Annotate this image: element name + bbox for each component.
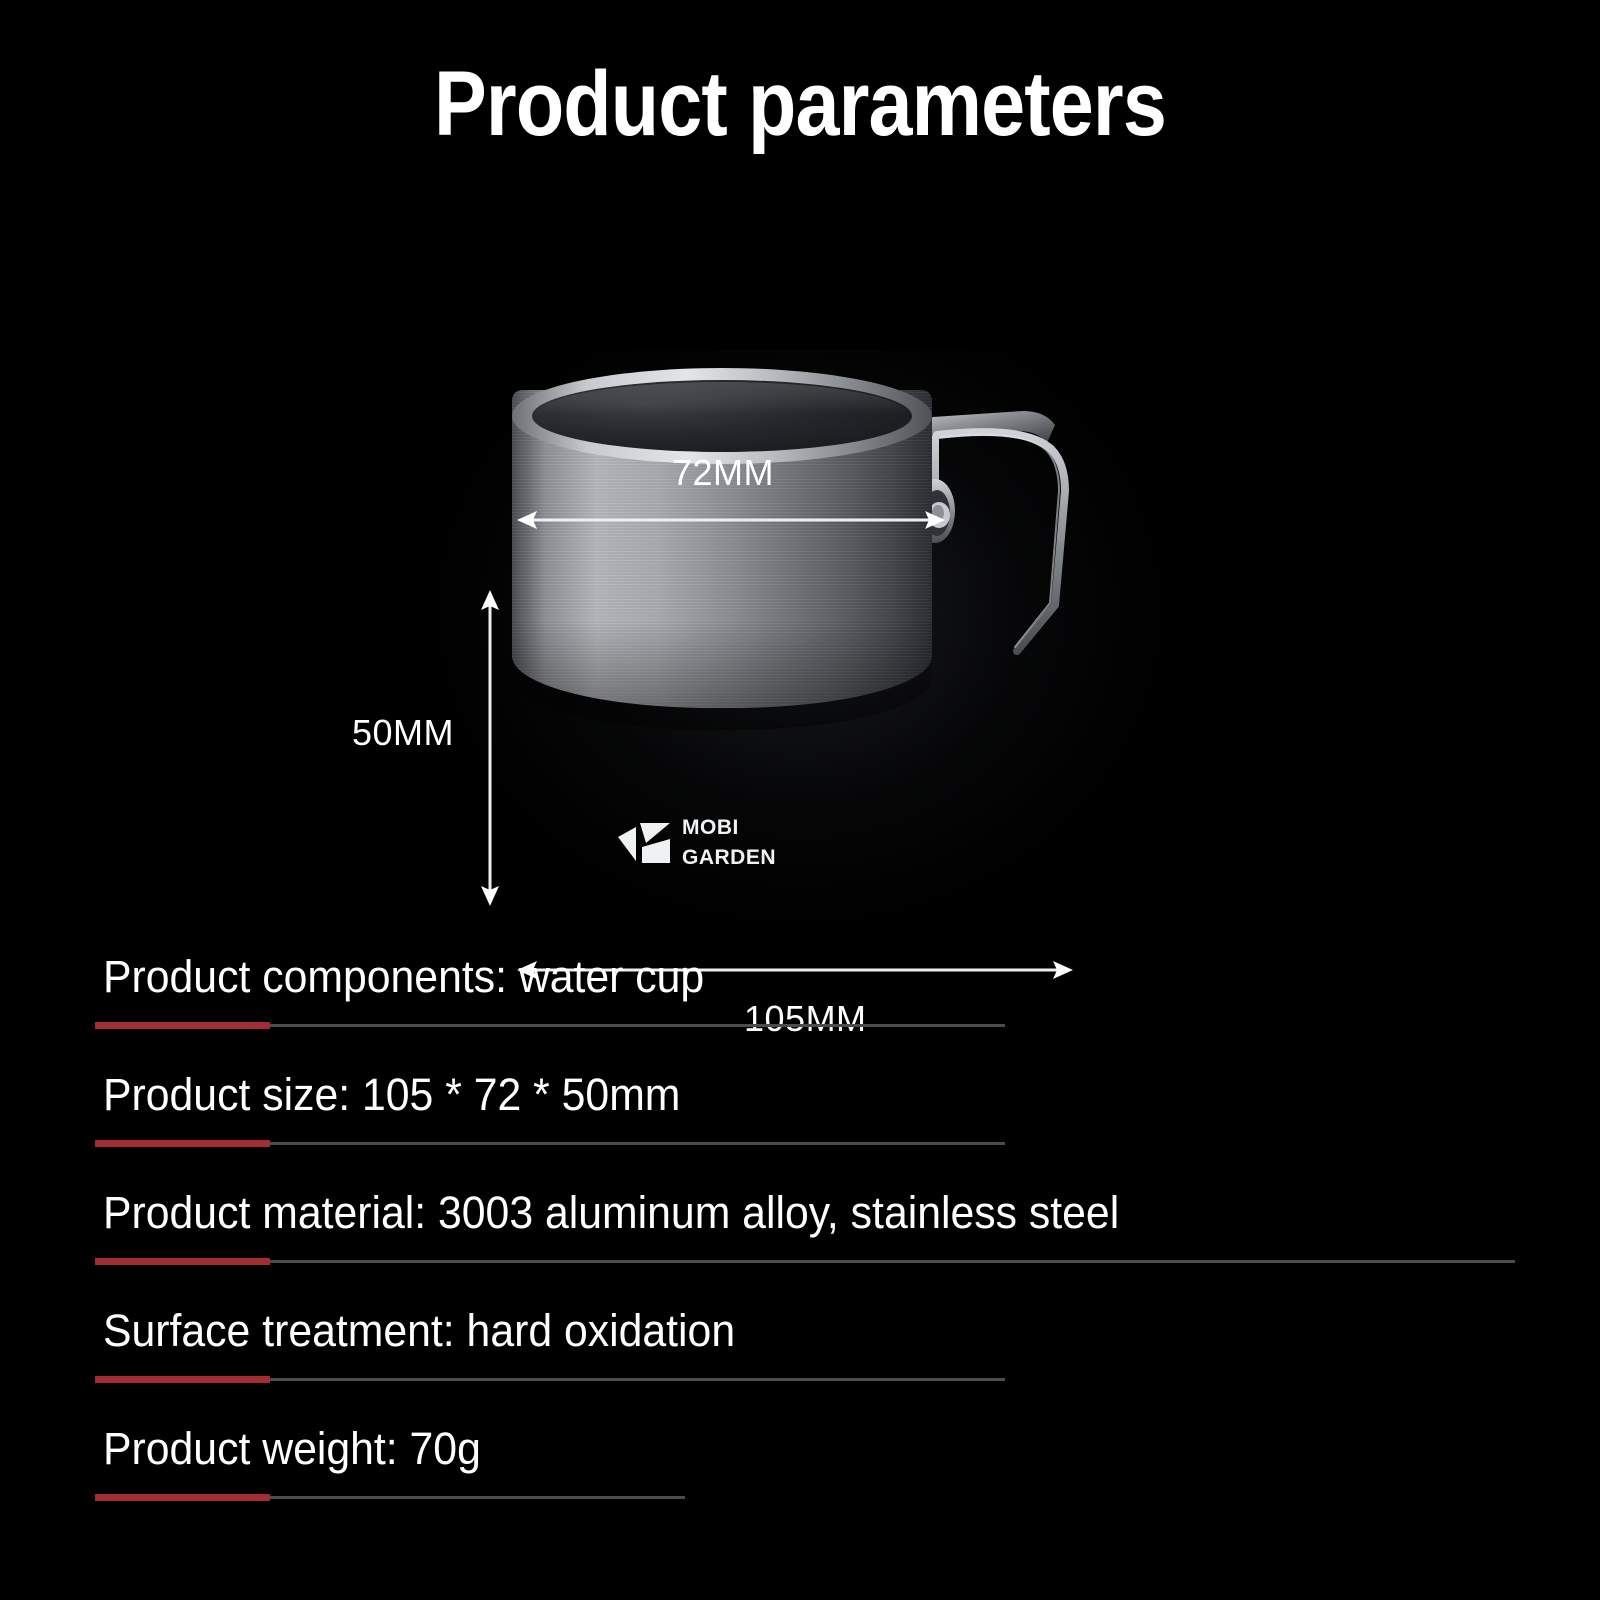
spec-divider-line xyxy=(270,1142,1005,1145)
spec-divider-line xyxy=(270,1024,1005,1027)
spec-divider xyxy=(95,1494,685,1501)
brand-logo: MOBI GARDEN xyxy=(616,813,816,875)
spec-label-components: Product components: water cup xyxy=(103,946,704,1008)
spec-divider-line xyxy=(270,1260,1515,1263)
dimension-arrow-height xyxy=(478,588,502,908)
product-photo: MOBI GARDEN 72MM 50MM xyxy=(0,200,1600,900)
spec-row: Product material: 3003 aluminum alloy, s… xyxy=(0,1174,1600,1292)
spec-row: Surface treatment: hard oxidation xyxy=(0,1292,1600,1410)
brand-logo-line1: MOBI xyxy=(682,813,776,843)
cup-bottom-shading xyxy=(512,620,932,730)
page-title: Product parameters xyxy=(112,52,1488,157)
brand-logo-text: MOBI GARDEN xyxy=(682,813,776,873)
spec-divider-accent xyxy=(95,1140,270,1147)
dimension-label-height: 50MM xyxy=(352,712,454,754)
spec-divider-line xyxy=(270,1496,685,1499)
spec-row: Product weight: 70g xyxy=(0,1410,1600,1528)
spec-divider xyxy=(95,1140,1005,1147)
product-parameters-page: Product parameters xyxy=(0,0,1600,1600)
spec-divider xyxy=(95,1376,1005,1383)
spec-divider xyxy=(95,1258,1515,1265)
cup-illustration xyxy=(512,368,932,730)
spec-divider xyxy=(95,1022,1005,1029)
spec-divider-line xyxy=(270,1378,1005,1381)
spec-divider-accent xyxy=(95,1022,270,1029)
spec-divider-accent xyxy=(95,1494,270,1501)
spec-row: Product components: water cup xyxy=(0,938,1600,1056)
dimension-label-width-top: 72MM xyxy=(672,452,774,494)
mobi-garden-mark-icon xyxy=(616,817,672,869)
spec-label-material: Product material: 3003 aluminum alloy, s… xyxy=(103,1182,1119,1244)
spec-label-surface: Surface treatment: hard oxidation xyxy=(103,1300,735,1362)
spec-label-weight: Product weight: 70g xyxy=(103,1418,481,1480)
spec-list: Product components: water cup Product si… xyxy=(0,938,1600,1528)
spec-divider-accent xyxy=(95,1376,270,1383)
spec-row: Product size: 105 * 72 * 50mm xyxy=(0,1056,1600,1174)
cup-interior-highlight xyxy=(536,382,908,448)
spec-label-size: Product size: 105 * 72 * 50mm xyxy=(103,1064,680,1126)
dimension-arrow-width-top xyxy=(515,508,947,532)
brand-logo-line2: GARDEN xyxy=(682,843,776,873)
spec-divider-accent xyxy=(95,1258,270,1265)
